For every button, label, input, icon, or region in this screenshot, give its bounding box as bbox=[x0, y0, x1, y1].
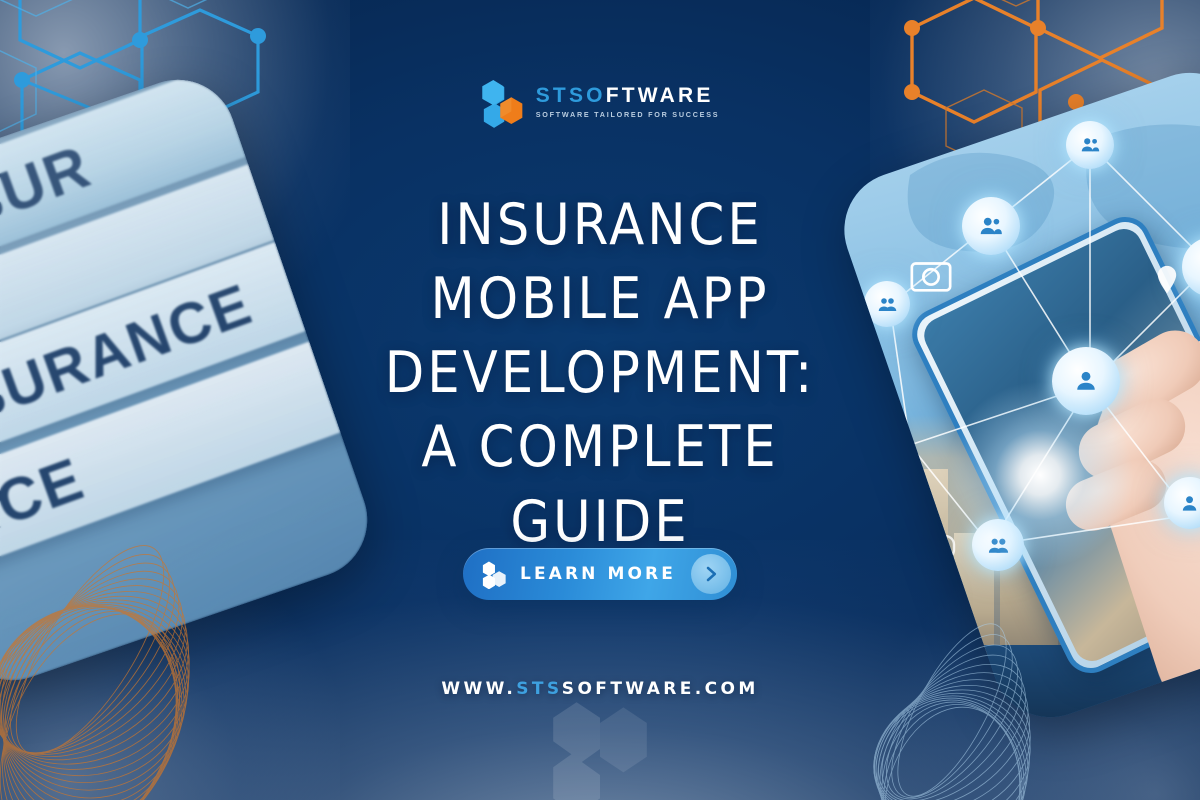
headline-line-2: MOBILE APP bbox=[320, 270, 880, 328]
sts-logo-mark-white-icon bbox=[481, 559, 507, 589]
headline-line-5: GUIDE bbox=[320, 493, 880, 551]
headline-line-3: DEVELOPMENT: bbox=[320, 344, 880, 402]
lens-flare bbox=[940, 375, 1140, 575]
page-title: INSURANCE MOBILE APP DEVELOPMENT: A COMP… bbox=[320, 196, 880, 567]
brand-text: STSOFTWARE SOFTWARE TAILORED FOR SUCCESS bbox=[536, 85, 720, 118]
chevron-right-icon[interactable] bbox=[691, 554, 731, 594]
camera-icon bbox=[908, 255, 954, 295]
brand-logo[interactable]: STSOFTWARE SOFTWARE TAILORED FOR SUCCESS bbox=[481, 76, 720, 128]
poster-canvas: INSURANCE TRAVEL INSUR POLICY HEALTH INS… bbox=[0, 0, 1200, 800]
user-node-icon bbox=[902, 585, 940, 623]
brand-tagline: SOFTWARE TAILORED FOR SUCCESS bbox=[536, 111, 720, 118]
brand-name-globe: O bbox=[586, 84, 606, 107]
url-rest: SOFTWARE.COM bbox=[562, 679, 759, 699]
user-node-icon bbox=[1066, 121, 1114, 169]
url-www: WWW. bbox=[441, 679, 516, 699]
sts-logo-watermark-icon bbox=[535, 694, 665, 800]
brand-name-software: FTWARE bbox=[606, 84, 714, 107]
mobile-network-photo bbox=[829, 57, 1200, 733]
headline-line-1: INSURANCE bbox=[320, 196, 880, 254]
footer-website-url[interactable]: WWW.STSSOFTWARE.COM bbox=[441, 679, 758, 699]
headline-line-4: A COMPLETE bbox=[320, 418, 880, 476]
chat-bubble-icon bbox=[916, 531, 958, 565]
brand-name-sts: STS bbox=[536, 84, 586, 107]
location-pin-icon bbox=[1150, 263, 1184, 297]
brand-name: STSOFTWARE bbox=[536, 85, 720, 106]
user-node-icon bbox=[962, 197, 1020, 255]
url-brand: STS bbox=[516, 679, 562, 699]
learn-more-button[interactable]: LEARN MORE bbox=[463, 548, 737, 600]
learn-more-label: LEARN MORE bbox=[520, 564, 676, 584]
sts-logo-hexagon-mark-icon bbox=[481, 76, 525, 128]
